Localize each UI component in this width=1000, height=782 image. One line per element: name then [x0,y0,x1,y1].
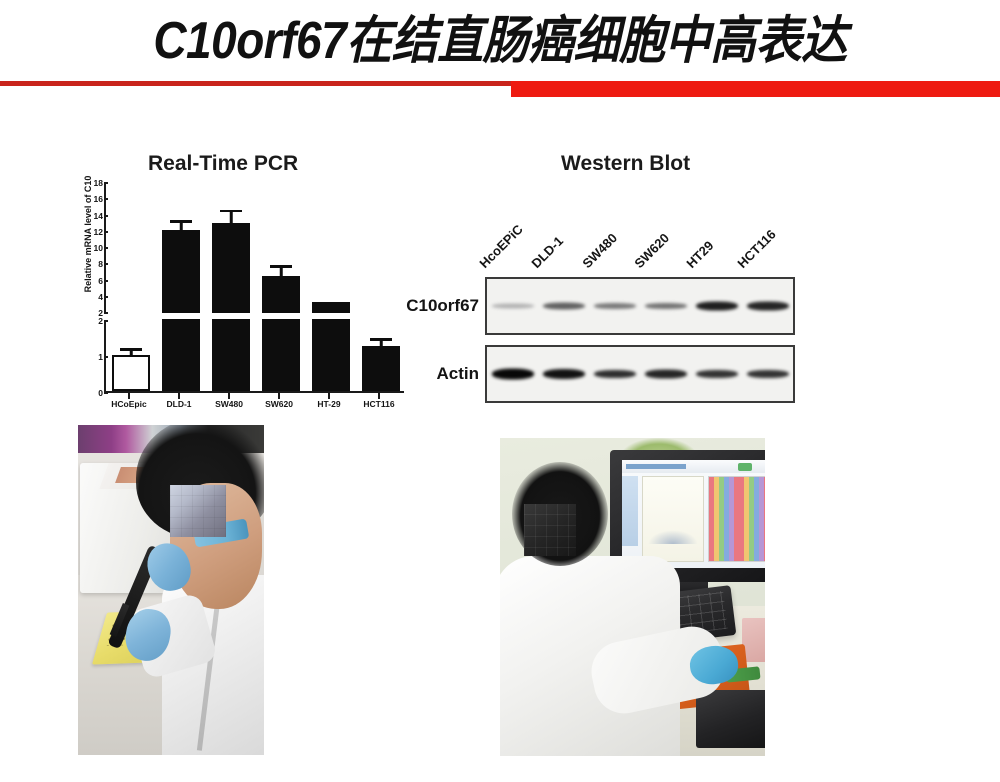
error-bar [380,341,383,346]
y-tick-10: 10 [94,243,103,253]
error-bar [130,351,133,357]
bar-slot [261,321,301,391]
lower-bars [106,321,406,391]
x-label-HCoEpic: HCoEpic [104,399,154,409]
bar-slot [261,183,301,313]
bar-SW480 [212,319,250,391]
y-tick-6: 6 [98,276,103,286]
blot-row-c10orf67: C10orf67 [485,277,795,335]
bar-slot [311,321,351,391]
bar-upper-DLD-1 [162,230,200,313]
bar-slot [111,183,151,313]
bar-DLD-1 [162,319,200,391]
lower-axis-segment: 012 [104,321,404,393]
blot-lanes-c10orf67 [487,279,793,333]
bar-slot [161,321,201,391]
plot-area: 24681012141618 012 [104,183,404,393]
blot-lane [491,347,535,401]
blot-lane [746,347,790,401]
bar-slot [211,321,251,391]
blot-band-Actin-HT29 [696,370,738,378]
blot-band-C10orf67-HT29 [696,302,738,311]
blot-lane [593,347,637,401]
x-label-HT-29: HT-29 [304,399,354,409]
upper-axis-segment: 24681012141618 [104,183,404,313]
blot-band-C10orf67-SW620 [645,303,687,309]
blot-row-label-actin: Actin [437,364,480,384]
y-tick-4: 4 [98,292,103,302]
x-label-SW480: SW480 [204,399,254,409]
bar-upper-SW620 [262,276,300,313]
bar-upper-HT-29 [312,302,350,313]
bar-HT-29 [312,319,350,391]
blot-band-C10orf67-HCT116 [747,302,789,311]
error-bar-cap [220,210,242,213]
blot-band-Actin-SW620 [645,370,687,379]
pcr-panel-title: Real-Time PCR [148,152,298,176]
y-tick-8: 8 [98,259,103,269]
blot-lane [542,279,586,333]
black-instrument [696,690,765,748]
bar-HCoEpic [112,355,150,391]
pcr-bar-chart: Relative mRNA level of C10 2468101214161… [62,183,412,415]
blot-band-C10orf67-HcoEPiC [492,304,534,309]
error-bar-cap [170,220,192,223]
x-axis-category-labels: HCoEpicDLD-1SW480SW620HT-29HCT116 [104,399,404,409]
error-bar-cap [270,265,292,268]
software-plot-panel [642,476,704,562]
title-bar: C10orf67在结直肠癌细胞中高表达 [0,0,1000,80]
error-bar [230,212,233,223]
face-pixelation-mask [170,485,226,537]
blot-lane [644,279,688,333]
bar-slot [211,183,251,313]
presentation-slide: C10orf67在结直肠癌细胞中高表达 Real-Time PCR Wester… [0,0,1000,782]
western-blot-figure: HcoEPiCDLD-1SW480SW620HT29HCT116 C10orf6… [395,205,795,410]
blot-band-Actin-HCT116 [747,370,789,378]
photo-researcher-pipetting [78,425,264,755]
blot-lane [695,279,739,333]
title-divider-thick [511,81,1000,97]
bar-slot [111,321,151,391]
photo-researcher-at-computer [500,438,765,756]
y-tick-14: 14 [94,211,103,221]
y-axis-label: Relative mRNA level of C10 [83,159,93,309]
blot-lane-label-HcoEPiC: HcoEPiC [476,222,525,271]
blot-row-label-c10orf67: C10orf67 [406,296,479,316]
upper-bars [106,183,406,313]
y-tick-16: 16 [94,194,103,204]
bar-SW620 [262,319,300,391]
software-plate-layout [708,476,765,562]
blot-lanes-actin [487,347,793,401]
blot-band-C10orf67-DLD-1 [543,303,585,310]
software-toolbar-field [626,464,686,469]
error-bar [280,268,283,277]
y-tick-12: 12 [94,227,103,237]
page-title: C10orf67在结直肠癌细胞中高表达 [153,14,846,66]
x-label-DLD-1: DLD-1 [154,399,204,409]
x-label-SW620: SW620 [254,399,304,409]
blot-lane [542,347,586,401]
error-bar-cap [370,338,392,341]
error-bar-cap [120,348,142,351]
blot-band-C10orf67-SW480 [594,303,636,309]
blot-lane [746,279,790,333]
y-tick-lower-1: 1 [98,352,103,362]
blot-row-actin: Actin [485,345,795,403]
y-tick-lower-0: 0 [98,388,103,398]
y-tick-lower-2: 2 [98,316,103,326]
blot-lane [644,347,688,401]
blot-lane [491,279,535,333]
blot-lane-label-SW620: SW620 [631,230,672,271]
blot-lane [695,347,739,401]
blot-lane-label-HCT116: HCT116 [735,227,779,271]
blot-band-Actin-SW480 [594,370,636,378]
y-tick-18: 18 [94,178,103,188]
blot-lane-label-HT29: HT29 [683,238,716,271]
software-side-panel [622,476,638,546]
blot-lane-labels: HcoEPiCDLD-1SW480SW620HT29HCT116 [485,205,795,273]
bar-slot [161,183,201,313]
blot-lane-label-DLD-1: DLD-1 [528,233,566,271]
error-bar [180,223,183,230]
software-amplification-curve [648,530,698,544]
blot-band-Actin-DLD-1 [543,369,585,379]
bar-upper-SW480 [212,223,250,313]
blot-band-Actin-HcoEPiC [492,369,534,380]
western-blot-panel-title: Western Blot [561,152,690,176]
software-run-button [738,463,752,471]
blot-lane [593,279,637,333]
blot-lane-label-SW480: SW480 [580,230,621,271]
head-pixelation-mask [524,504,576,556]
bar-slot [311,183,351,313]
